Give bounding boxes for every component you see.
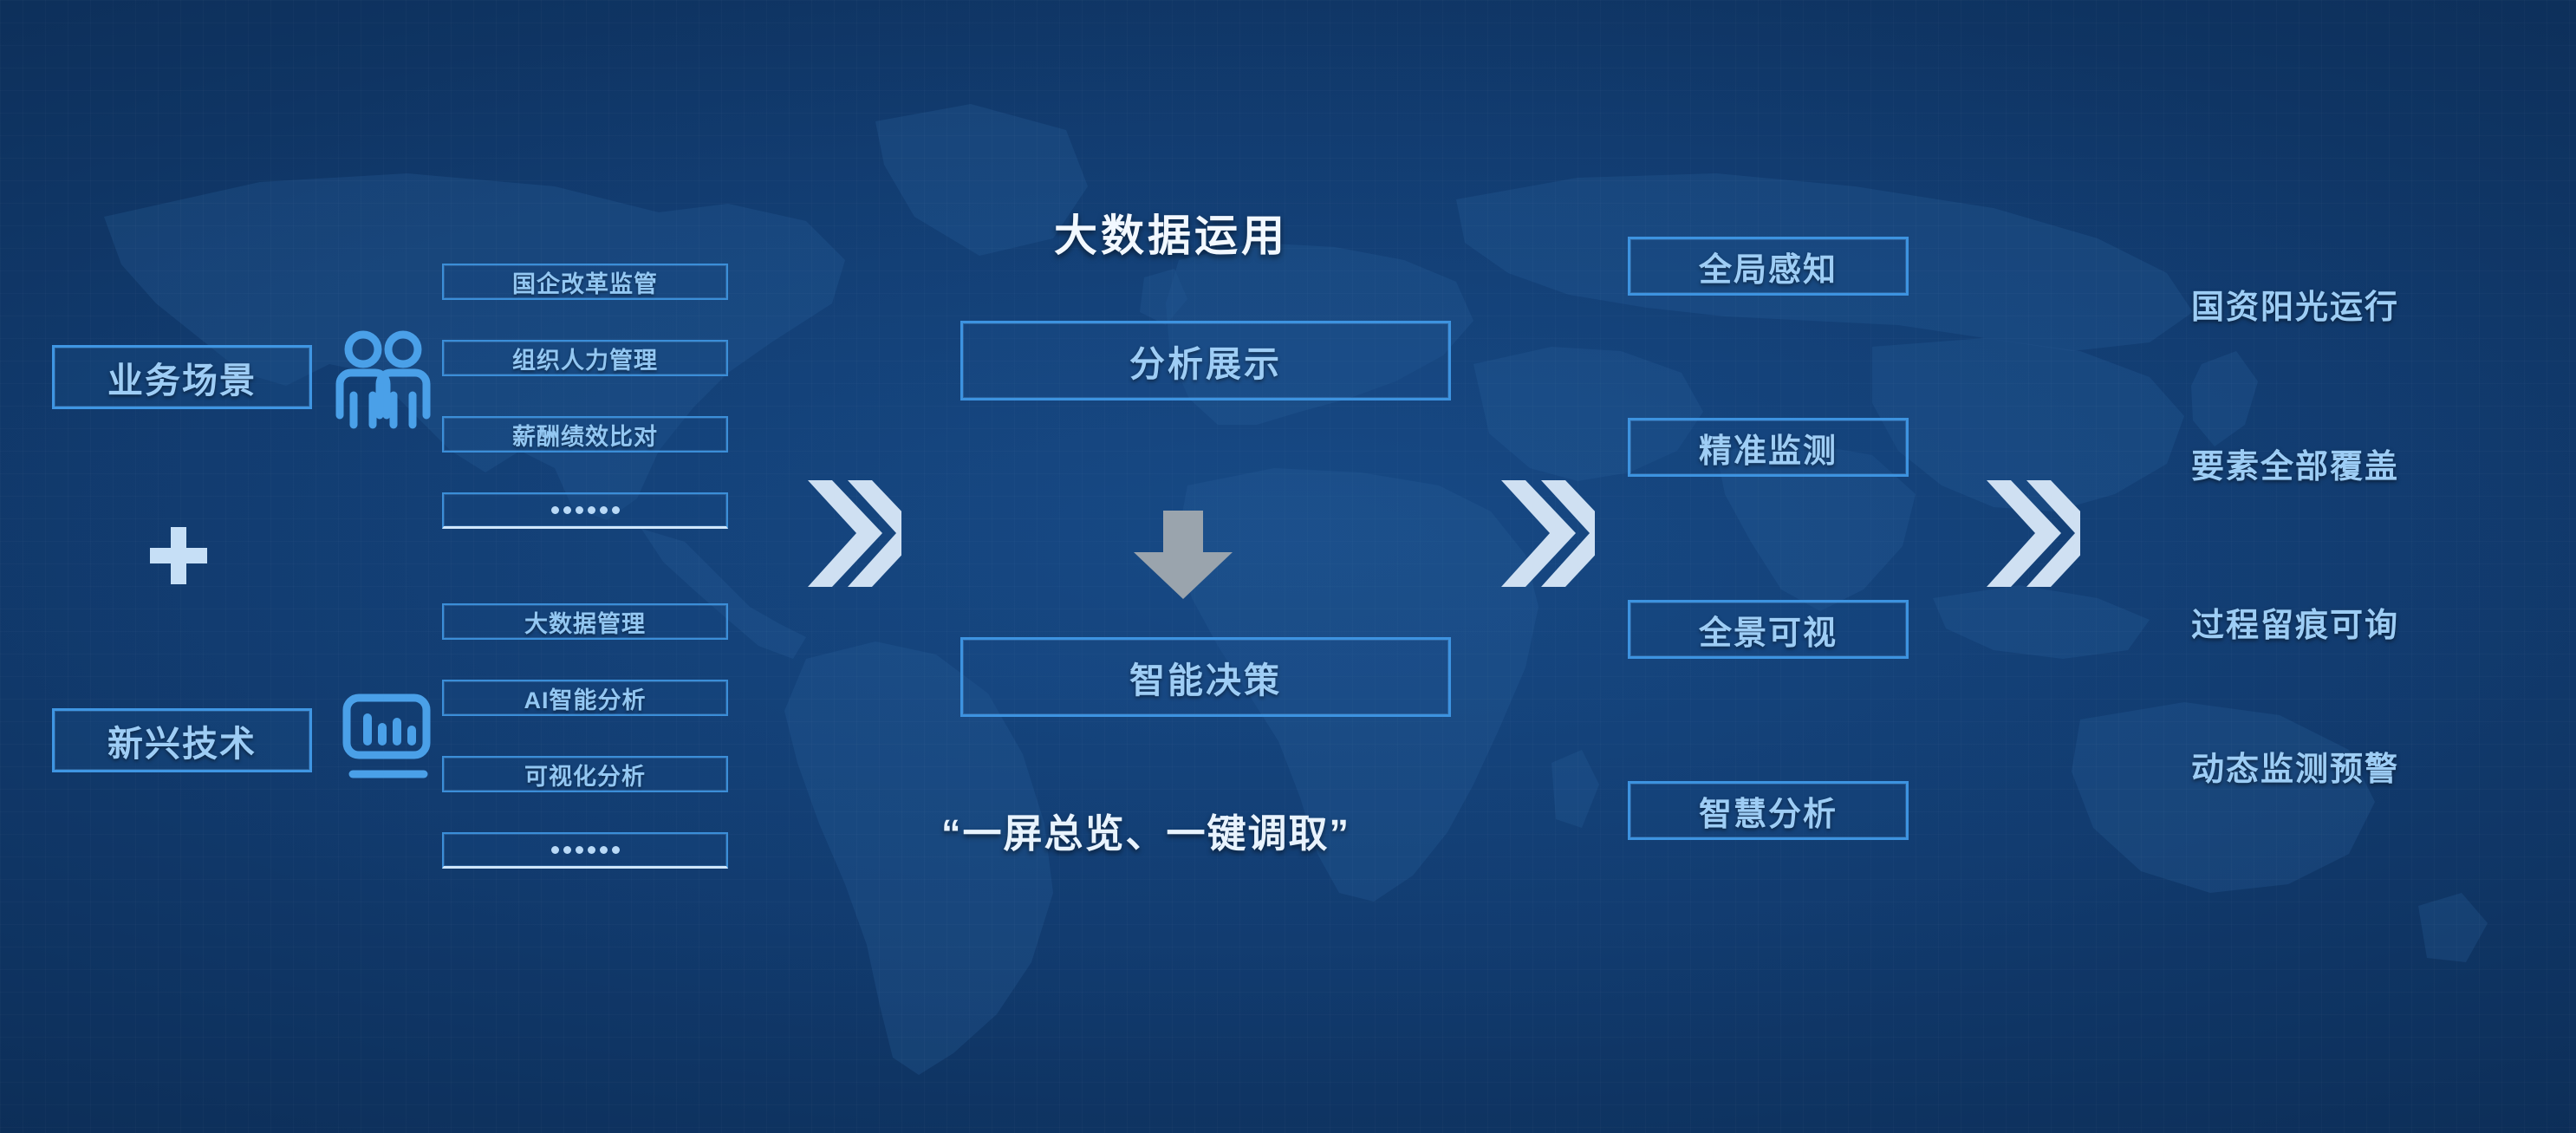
list-item[interactable]: 可视化分析 (442, 756, 728, 792)
capability-box-intelligent-analysis[interactable]: 智慧分析 (1628, 781, 1909, 840)
capability-label: 智慧分析 (1699, 787, 1838, 835)
capability-box-precise-monitoring[interactable]: 精准监测 (1628, 418, 1909, 477)
double-chevron-right-icon (806, 475, 901, 592)
ellipsis-dots (551, 506, 620, 514)
stage-label: 智能决策 (1129, 651, 1282, 703)
list-item[interactable]: 薪酬绩效比对 (442, 416, 728, 453)
capability-box-global-awareness[interactable]: 全局感知 (1628, 237, 1909, 296)
plus-symbol (150, 527, 207, 584)
background-glow (0, 0, 2576, 1133)
category-label: 业务场景 (107, 351, 257, 403)
outcome-item: 过程留痕可询 (2191, 598, 2399, 646)
double-chevron-right-icon (1499, 475, 1595, 592)
infographic-canvas: 业务场景 新兴技术 国企改革监管 组织人力管理 (0, 0, 2576, 1133)
list-item-label: 大数据管理 (524, 605, 646, 639)
capability-label: 全局感知 (1699, 243, 1838, 290)
list-item[interactable]: 大数据管理 (442, 603, 728, 640)
people-icon (335, 328, 432, 430)
bar-chart-monitor-icon (341, 689, 436, 785)
capability-label: 全景可视 (1699, 606, 1838, 654)
outcome-item: 动态监测预警 (2191, 742, 2399, 790)
list-item-label: 可视化分析 (524, 758, 646, 791)
stage-box-smart-decision[interactable]: 智能决策 (960, 637, 1451, 717)
list-item[interactable]: 组织人力管理 (442, 340, 728, 376)
category-label: 新兴技术 (107, 714, 257, 766)
outcome-item: 国资阳光运行 (2191, 280, 2399, 328)
capability-label: 精准监测 (1699, 424, 1838, 472)
ellipsis-dots (551, 846, 620, 854)
list-item[interactable]: 国企改革监管 (442, 264, 728, 300)
capability-box-panoramic-visibility[interactable]: 全景可视 (1628, 600, 1909, 659)
list-item-ellipsis[interactable] (442, 492, 728, 529)
stage-label: 分析展示 (1129, 335, 1282, 387)
outcome-item: 要素全部覆盖 (2191, 440, 2399, 487)
list-item-label: AI智能分析 (524, 681, 647, 715)
list-item-label: 薪酬绩效比对 (512, 418, 658, 452)
stage-box-analysis-display[interactable]: 分析展示 (960, 321, 1451, 400)
list-item-ellipsis[interactable] (442, 832, 728, 869)
center-caption: “一屏总览、一键调取” (941, 802, 1350, 858)
list-item[interactable]: AI智能分析 (442, 680, 728, 716)
background-dot-grid (0, 0, 2576, 1133)
category-box-emerging-technology[interactable]: 新兴技术 (52, 708, 312, 772)
world-map-background (0, 0, 2576, 1133)
page-title: 大数据运用 (1054, 201, 1288, 264)
list-item-label: 国企改革监管 (512, 265, 658, 299)
down-arrow-icon (1127, 507, 1239, 602)
double-chevron-right-icon (1985, 475, 2080, 592)
list-item-label: 组织人力管理 (512, 342, 658, 375)
category-box-business-scenario[interactable]: 业务场景 (52, 345, 312, 409)
